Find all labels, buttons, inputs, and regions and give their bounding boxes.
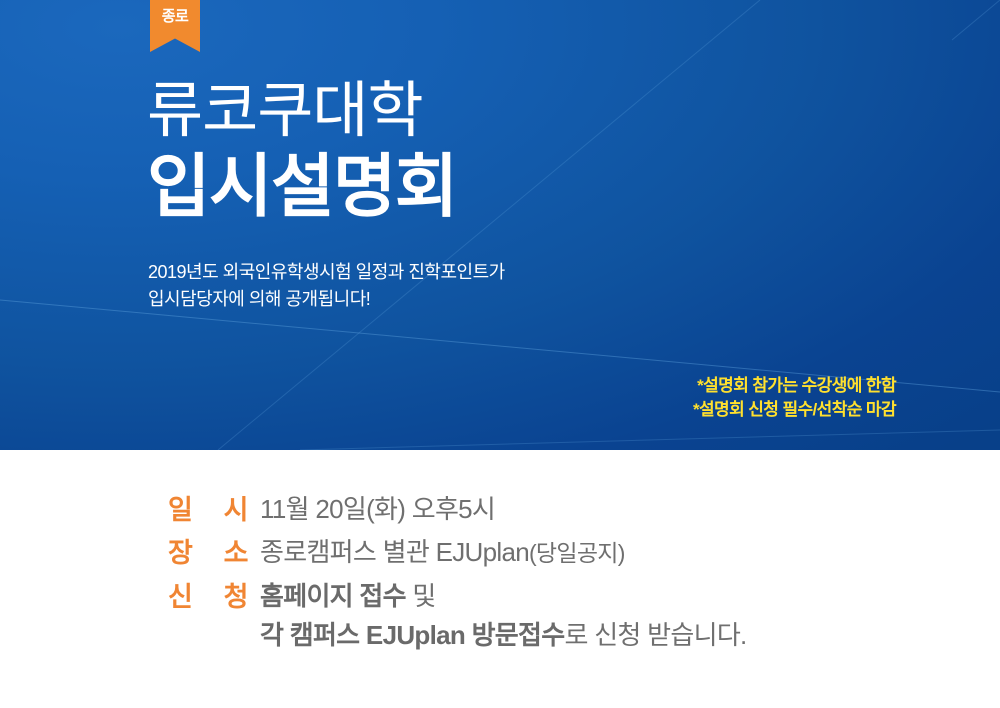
campus-ribbon-badge: 종로	[150, 0, 200, 52]
detail-label-datetime-char2: 시	[224, 492, 248, 529]
campus-ribbon-label: 종로	[162, 9, 189, 24]
detail-value-application-rest-1: 및	[406, 581, 436, 611]
detail-label-datetime-char1: 일	[168, 492, 192, 529]
title-event-name: 입시설명회	[147, 151, 457, 223]
detail-value-location: 종로캠퍼스 별관 EJUplan(당일공지)	[260, 535, 625, 571]
detail-value-application-bold-2: 각 캠퍼스 EJUplan 방문접수	[260, 620, 564, 650]
note-line-1: *설명회 참가는 수강생에 한함	[693, 374, 896, 398]
detail-row-datetime: 일 시 11월 20일(화) 오후5시	[168, 492, 747, 529]
detail-row-application: 신 청 홈페이지 접수 및 각 캠퍼스 EJUplan 방문접수로 신청 받습니…	[168, 579, 747, 655]
detail-value-location-suffix: (당일공지)	[529, 540, 625, 566]
subtitle-line-1: 2019년도 외국인유학생시험 일정과 진학포인트가	[148, 259, 505, 286]
detail-value-datetime-text: 11월 20일(화) 오후5시	[260, 494, 495, 524]
detail-label-location: 장 소	[168, 535, 260, 572]
detail-label-application-char2: 청	[224, 579, 248, 616]
hero-banner: 종로 류코쿠대학 입시설명회 2019년도 외국인유학생시험 일정과 진학포인트…	[0, 0, 1000, 450]
note-line-2: *설명회 신청 필수/선착순 마감	[693, 398, 896, 422]
poster-subtitle: 2019년도 외국인유학생시험 일정과 진학포인트가 입시담당자에 의해 공개됩…	[148, 259, 505, 314]
detail-label-application: 신 청	[168, 579, 260, 616]
detail-value-location-main: 종로캠퍼스 별관 EJUplan	[260, 537, 529, 567]
detail-value-application-line-2: 각 캠퍼스 EJUplan 방문접수로 신청 받습니다.	[260, 618, 747, 654]
event-details-section: 일 시 11월 20일(화) 오후5시 장 소 종로캠퍼스 별관 EJUplan…	[0, 450, 1000, 708]
subtitle-line-2: 입시담당자에 의해 공개됩니다!	[148, 286, 505, 313]
detail-value-application: 홈페이지 접수 및 각 캠퍼스 EJUplan 방문접수로 신청 받습니다.	[260, 579, 747, 655]
detail-row-location: 장 소 종로캠퍼스 별관 EJUplan(당일공지)	[168, 535, 747, 572]
detail-value-datetime: 11월 20일(화) 오후5시	[260, 492, 495, 528]
detail-label-application-char1: 신	[168, 579, 192, 616]
detail-label-location-char2: 소	[224, 535, 248, 572]
poster-notes: *설명회 참가는 수강생에 한함 *설명회 신청 필수/선착순 마감	[693, 374, 896, 422]
detail-label-datetime: 일 시	[168, 492, 260, 529]
title-university-name: 류코쿠대학	[147, 78, 457, 144]
poster-root: 종로 류코쿠대학 입시설명회 2019년도 외국인유학생시험 일정과 진학포인트…	[0, 0, 1000, 708]
poster-title: 류코쿠대학 입시설명회	[147, 78, 457, 223]
detail-value-application-rest-2: 로 신청 받습니다.	[564, 620, 746, 650]
detail-label-location-char1: 장	[168, 535, 192, 572]
event-details-list: 일 시 11월 20일(화) 오후5시 장 소 종로캠퍼스 별관 EJUplan…	[168, 492, 747, 660]
detail-value-application-bold-1: 홈페이지 접수	[260, 581, 406, 611]
